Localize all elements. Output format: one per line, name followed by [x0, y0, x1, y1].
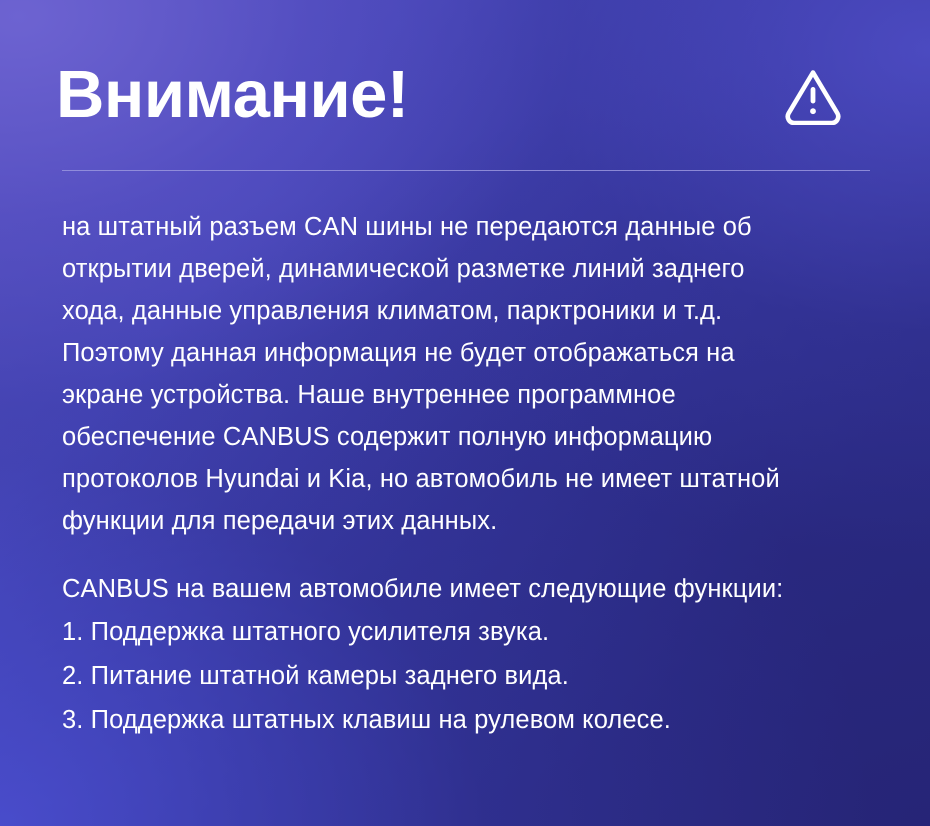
- paragraph-line: на штатный разъем CAN шины не передаются…: [62, 206, 894, 248]
- paragraph-line: функции для передачи этих данных.: [62, 500, 894, 542]
- paragraph-line: открытии дверей, динамической разметке л…: [62, 248, 894, 290]
- warning-paragraph: на штатный разъем CAN шины не передаются…: [62, 206, 894, 542]
- warning-triangle-icon: [782, 63, 844, 125]
- paragraph-line: протоколов Hyundai и Kia, но автомобиль …: [62, 458, 894, 500]
- list-item: 2. Питание штатной камеры заднего вида.: [62, 654, 894, 698]
- paragraph-line: обеспечение CANBUS содержит полную инфор…: [62, 416, 894, 458]
- warning-banner: Внимание! на штатный разъем CAN шины не …: [0, 0, 930, 826]
- list-item: 3. Поддержка штатных клавиш на рулевом к…: [62, 698, 894, 742]
- list-item: 1. Поддержка штатного усилителя звука.: [62, 610, 894, 654]
- paragraph-line: хода, данные управления климатом, парктр…: [62, 290, 894, 332]
- page-title: Внимание!: [56, 61, 409, 128]
- paragraph-line: экране устройства. Наше внутреннее прогр…: [62, 374, 894, 416]
- functions-list: 1. Поддержка штатного усилителя звука. 2…: [62, 610, 894, 742]
- functions-block: CANBUS на вашем автомобиле имеет следующ…: [62, 568, 894, 742]
- functions-intro: CANBUS на вашем автомобиле имеет следующ…: [62, 568, 894, 610]
- banner-header: Внимание!: [0, 46, 930, 142]
- banner-content: на штатный разъем CAN шины не передаются…: [62, 206, 894, 742]
- paragraph-line: Поэтому данная информация не будет отобр…: [62, 332, 894, 374]
- header-divider: [62, 170, 870, 171]
